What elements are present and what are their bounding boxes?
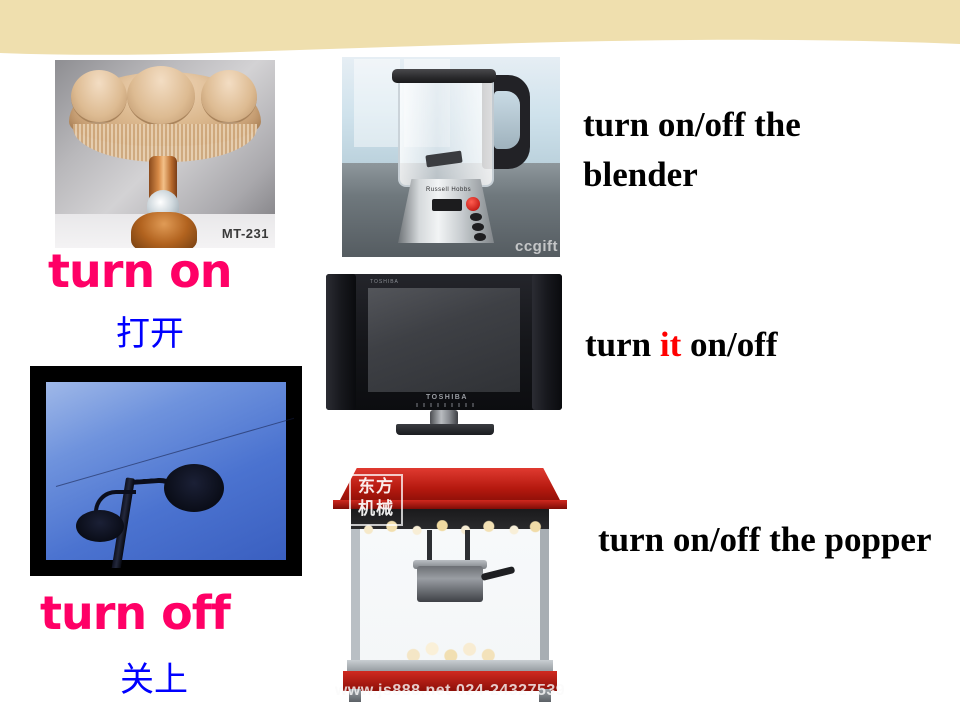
popper-watermark: www.js888.net 024-24327539 [325, 682, 575, 700]
tv-control-buttons [416, 403, 478, 407]
lamp-head-right [164, 464, 224, 512]
tv-screen [368, 288, 520, 392]
tv-front-brand: TOSHIBA [426, 394, 468, 401]
blender-brand-text: Russell Hobbs [426, 187, 471, 193]
blender-power-knob [466, 197, 480, 211]
tv-speaker-left [326, 274, 356, 410]
tv-caption-before: turn [585, 325, 660, 364]
turn-on-label: turn on [48, 244, 232, 298]
blender-lid [392, 69, 496, 83]
tv-speaker-right [532, 274, 562, 410]
popcorn-machine-image: 东方机械 www.js888.net 024-24327539 [325, 460, 575, 710]
tv-stand-base [396, 424, 494, 435]
tv-caption-highlight: it [660, 325, 681, 364]
lamp-shade-panel [127, 66, 195, 126]
blender-button [472, 223, 484, 231]
lamp-head-left [76, 510, 124, 542]
banner-shape [0, 0, 960, 60]
tv-brand-logo: TOSHIBA [370, 279, 399, 285]
blender-handle-opening [494, 91, 520, 149]
television-image: TOSHIBA TOSHIBA [322, 270, 566, 438]
top-banner [0, 0, 960, 60]
blender-jar [398, 79, 494, 187]
slide-canvas: MT-231 Russell Hobbs ccgift TOSHIBA TOSH… [0, 0, 960, 720]
popper-caption: turn on/off the popper [598, 515, 938, 565]
lamp-model-tag: MT-231 [222, 226, 269, 241]
sky-background [46, 382, 286, 560]
blender-watermark: ccgift [515, 238, 558, 255]
blender-button [474, 233, 486, 241]
blender-image: Russell Hobbs ccgift [342, 57, 560, 257]
tv-caption: turn it on/off [585, 320, 915, 370]
lamp-shade-panel [71, 70, 127, 124]
turn-off-chinese-label: 关上 [120, 652, 188, 701]
tv-caption-after: on/off [681, 325, 777, 364]
lamp-base [131, 212, 197, 248]
popper-kettle [417, 566, 483, 602]
blender-button [470, 213, 482, 221]
table-lamp-image: MT-231 [55, 60, 275, 248]
blender-caption: turn on/off the blender [583, 100, 913, 199]
turn-on-chinese-label: 打开 [116, 306, 184, 355]
popcorn-lower [403, 640, 507, 662]
blender-display-panel [432, 199, 462, 211]
turn-off-label: turn off [40, 586, 230, 640]
popper-brand-logo: 东方机械 [349, 474, 403, 526]
street-lamp-image [30, 366, 302, 576]
lamp-shade-panel [201, 70, 257, 124]
